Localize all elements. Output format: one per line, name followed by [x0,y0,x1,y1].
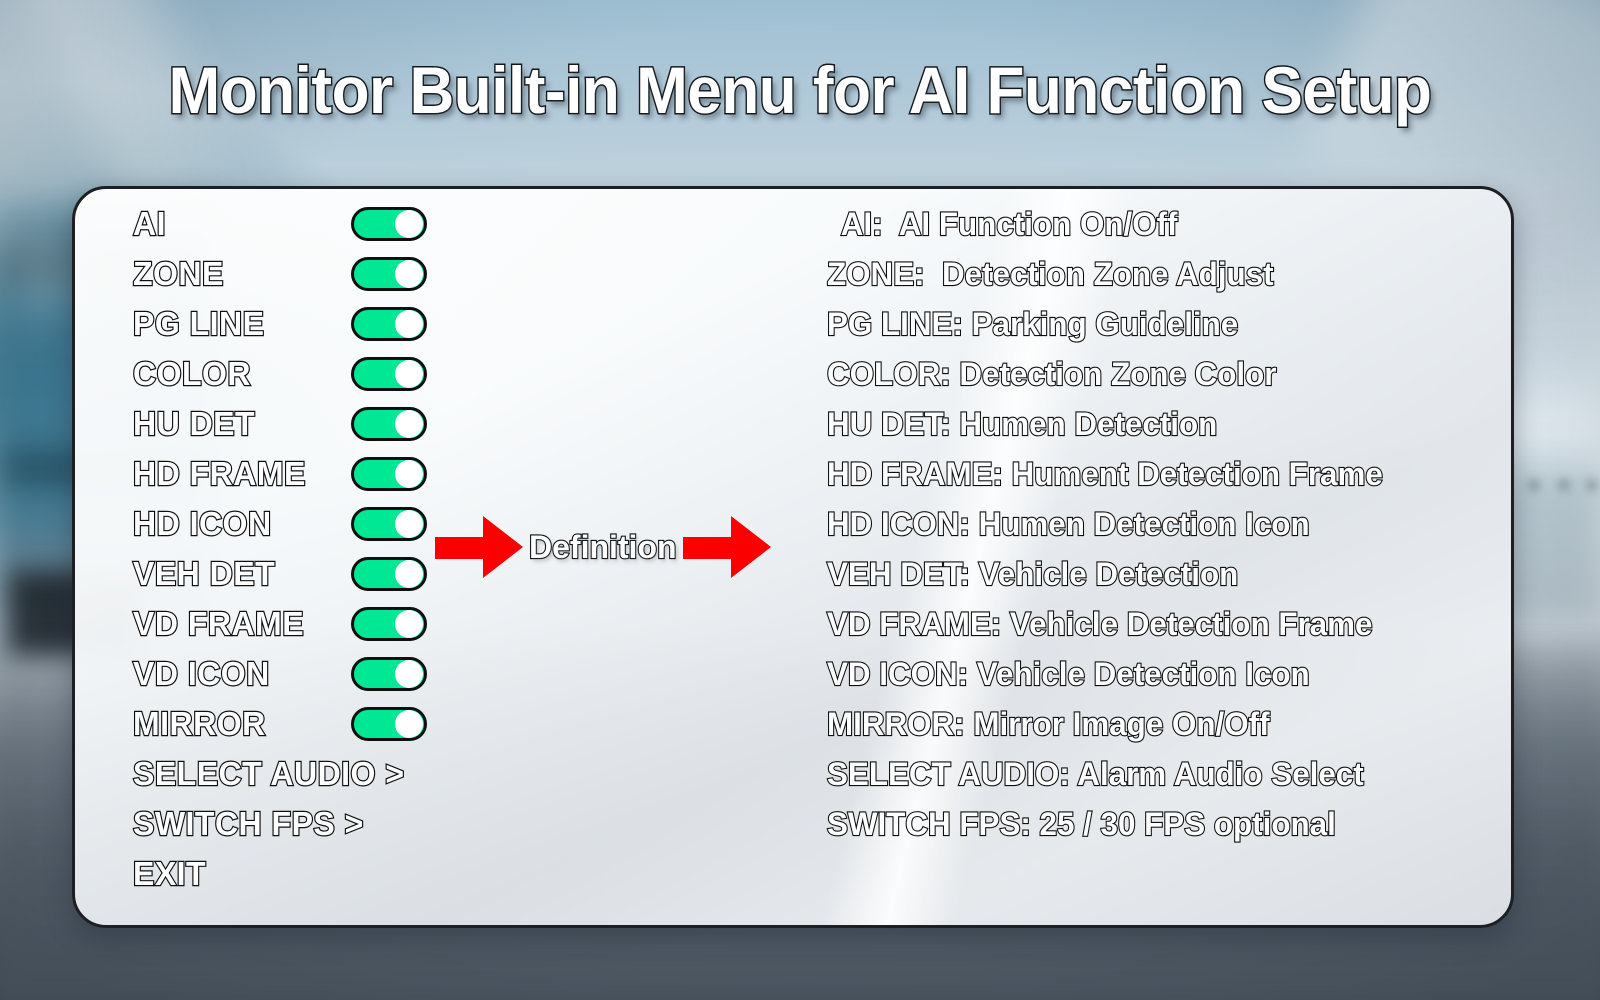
menu-item-label: PG LINE [133,305,264,343]
toggle-switch[interactable] [351,507,427,541]
menu-item-hu-det[interactable]: HU DET [133,399,493,449]
arrow-shaft [683,537,737,559]
toggle-knob [395,260,423,288]
toggle-switch[interactable] [351,657,427,691]
toggle-switch[interactable] [351,257,427,291]
menu-item-ai[interactable]: AI [133,199,493,249]
menu-item-label: HD ICON [133,505,272,543]
arrow-right-icon [435,516,523,578]
menu-item-label: EXIT [133,855,206,893]
toggle-knob [395,710,423,738]
toggle-knob [395,660,423,688]
menu-item-vd-icon[interactable]: VD ICON [133,649,493,699]
definition-list: AI: AI Function On/OffZONE: Detection Zo… [827,199,1487,849]
definition-text: AI: AI Function On/Off [827,206,1177,243]
definition-row: HD FRAME: Hument Detection Frame [827,449,1487,499]
toggle-switch[interactable] [351,357,427,391]
menu-item-pg-line[interactable]: PG LINE [133,299,493,349]
menu-panel: AIZONEPG LINECOLORHU DETHD FRAMEHD ICONV… [72,186,1514,928]
definition-row: SWITCH FPS: 25 / 30 FPS optional [827,799,1487,849]
menu-item-label: SWITCH FPS > [133,805,364,843]
menu-item-label: SELECT AUDIO > [133,755,405,793]
menu-item-color[interactable]: COLOR [133,349,493,399]
toggle-switch[interactable] [351,557,427,591]
menu-item-label: VEH DET [133,555,275,593]
toggle-knob [395,360,423,388]
definition-text: HU DET: Humen Detection [827,406,1217,443]
toggle-knob [395,460,423,488]
definition-connector: Definition [435,512,835,582]
definition-row: VEH DET: Vehicle Detection [827,549,1487,599]
menu-item-label: ZONE [133,255,224,293]
definition-row: COLOR: Detection Zone Color [827,349,1487,399]
toggle-knob [395,210,423,238]
definition-text: HD ICON: Humen Detection Icon [827,506,1310,543]
toggle-switch[interactable] [351,407,427,441]
toggle-switch[interactable] [351,457,427,491]
menu-item-label: HD FRAME [133,455,306,493]
definition-text: VEH DET: Vehicle Detection [827,556,1238,593]
menu-item-label: AI [133,205,166,243]
definition-text: PG LINE: Parking Guideline [827,306,1238,343]
arrow-head [483,516,523,578]
menu-item-vd-frame[interactable]: VD FRAME [133,599,493,649]
arrow-right-icon [683,516,771,578]
definition-text: COLOR: Detection Zone Color [827,356,1276,393]
definition-row: PG LINE: Parking Guideline [827,299,1487,349]
toggle-switch[interactable] [351,707,427,741]
definition-text: VD ICON: Vehicle Detection Icon [827,656,1310,693]
toggle-knob [395,310,423,338]
definition-row: MIRROR: Mirror Image On/Off [827,699,1487,749]
definition-text: SWITCH FPS: 25 / 30 FPS optional [827,806,1336,843]
toggle-knob [395,510,423,538]
toggle-switch[interactable] [351,307,427,341]
toggle-switch[interactable] [351,207,427,241]
definition-row: SELECT AUDIO: Alarm Audio Select [827,749,1487,799]
menu-item-label: COLOR [133,355,251,393]
definition-text: MIRROR: Mirror Image On/Off [827,706,1270,743]
menu-item-switch-fps[interactable]: SWITCH FPS > [133,799,493,849]
menu-item-mirror[interactable]: MIRROR [133,699,493,749]
menu-item-select-audio[interactable]: SELECT AUDIO > [133,749,493,799]
definition-row: HD ICON: Humen Detection Icon [827,499,1487,549]
definition-text: HD FRAME: Hument Detection Frame [827,456,1383,493]
definition-row: VD ICON: Vehicle Detection Icon [827,649,1487,699]
page-title: Monitor Built-in Menu for AI Function Se… [48,52,1552,128]
screenshot-stage: Monitor Built-in Menu for AI Function Se… [0,0,1600,1000]
definition-row: HU DET: Humen Detection [827,399,1487,449]
definition-text: SELECT AUDIO: Alarm Audio Select [827,756,1364,793]
menu-item-hd-frame[interactable]: HD FRAME [133,449,493,499]
toggle-knob [395,610,423,638]
toggle-switch[interactable] [351,607,427,641]
definition-row: ZONE: Detection Zone Adjust [827,249,1487,299]
definition-text: VD FRAME: Vehicle Detection Frame [827,606,1372,643]
menu-item-label: HU DET [133,405,255,443]
toggle-knob [395,410,423,438]
menu-item-label: VD ICON [133,655,270,693]
definition-label: Definition [529,529,677,566]
definition-text: ZONE: Detection Zone Adjust [827,256,1274,293]
definition-row: VD FRAME: Vehicle Detection Frame [827,599,1487,649]
toggle-knob [395,560,423,588]
menu-item-zone[interactable]: ZONE [133,249,493,299]
definition-row: AI: AI Function On/Off [827,199,1487,249]
arrow-shaft [435,537,489,559]
arrow-head [731,516,771,578]
menu-item-label: MIRROR [133,705,266,743]
menu-item-label: VD FRAME [133,605,304,643]
menu-item-exit[interactable]: EXIT [133,849,493,899]
